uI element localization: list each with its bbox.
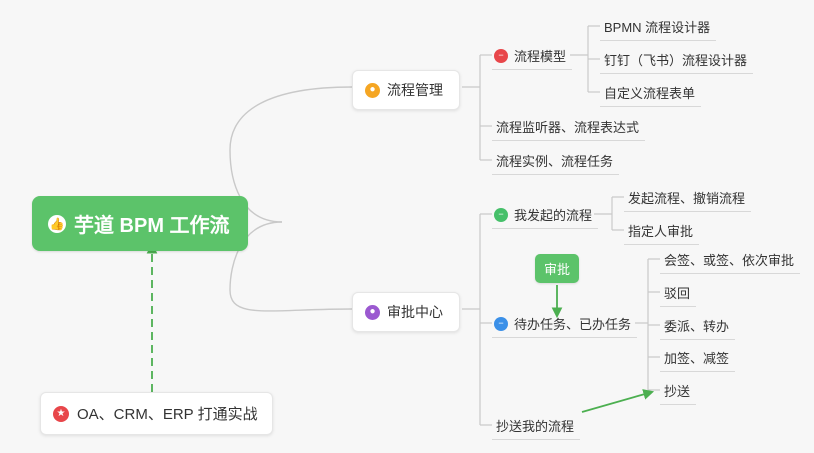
- node-label: 钉钉（飞书）流程设计器: [604, 50, 747, 69]
- node-cc-my-processes[interactable]: 抄送我的流程: [492, 413, 580, 440]
- node-my-started-processes[interactable]: − 我发起的流程: [492, 202, 598, 229]
- connector-root-to-approval-center: [230, 222, 352, 311]
- node-label: 流程模型: [514, 46, 566, 65]
- node-custom-form[interactable]: 自定义流程表单: [600, 80, 701, 107]
- node-dingtalk-designer[interactable]: 钉钉（飞书）流程设计器: [600, 47, 753, 74]
- node-label: 自定义流程表单: [604, 83, 695, 102]
- branch-process-management[interactable]: ● 流程管理: [352, 70, 460, 110]
- node-label: 我发起的流程: [514, 205, 592, 224]
- node-assign-approver[interactable]: 指定人审批: [624, 218, 699, 245]
- node-bpmn-designer[interactable]: BPMN 流程设计器: [600, 14, 716, 41]
- node-todo-done-tasks[interactable]: − 待办任务、已办任务: [492, 311, 637, 338]
- node-add-remove-sign[interactable]: 加签、减签: [660, 345, 735, 372]
- root-node[interactable]: 👍 芋道 BPM 工作流: [32, 196, 248, 251]
- node-reject[interactable]: 驳回: [660, 280, 696, 307]
- minus-circle-icon: −: [494, 208, 508, 222]
- minus-circle-icon: −: [494, 49, 508, 63]
- node-label: 会签、或签、依次审批: [664, 250, 794, 269]
- node-process-instance[interactable]: 流程实例、流程任务: [492, 148, 619, 175]
- branch-approval-center[interactable]: ● 审批中心: [352, 292, 460, 332]
- node-label: 待办任务、已办任务: [514, 314, 631, 333]
- message-icon: ●: [365, 305, 380, 320]
- node-label: 流程实例、流程任务: [496, 151, 613, 170]
- node-label: 抄送我的流程: [496, 416, 574, 435]
- node-countersign[interactable]: 会签、或签、依次审批: [660, 247, 800, 274]
- connector-root-to-process-management: [230, 87, 352, 222]
- node-start-cancel-process[interactable]: 发起流程、撤销流程: [624, 185, 751, 212]
- node-delegate-transfer[interactable]: 委派、转办: [660, 313, 735, 340]
- arrow-cc-to-cc-action: [582, 392, 652, 412]
- minus-circle-icon: −: [494, 317, 508, 331]
- node-label: 发起流程、撤销流程: [628, 188, 745, 207]
- node-label: BPMN 流程设计器: [604, 17, 710, 36]
- bottom-card-integration-practice[interactable]: ★ OA、CRM、ERP 打通实战: [40, 392, 273, 435]
- node-label: 驳回: [664, 283, 690, 302]
- location-pin-icon: ●: [365, 83, 380, 98]
- branch-label: 流程管理: [387, 80, 443, 100]
- node-label: 委派、转办: [664, 316, 729, 335]
- branch-label: 审批中心: [387, 302, 443, 322]
- node-process-listener[interactable]: 流程监听器、流程表达式: [492, 114, 645, 141]
- node-label: 流程监听器、流程表达式: [496, 117, 639, 136]
- chip-label: 审批: [544, 262, 570, 277]
- node-carbon-copy[interactable]: 抄送: [660, 378, 696, 405]
- node-label: 抄送: [664, 381, 690, 400]
- node-label: 指定人审批: [628, 221, 693, 240]
- bottom-card-label: OA、CRM、ERP 打通实战: [77, 403, 258, 424]
- mindmap-canvas: 👍 芋道 BPM 工作流 ● 流程管理 − 流程模型 流程监听器、流程表达式 流…: [0, 0, 814, 453]
- thumbs-up-icon: 👍: [48, 215, 66, 233]
- root-label: 芋道 BPM 工作流: [74, 209, 230, 238]
- star-icon: ★: [53, 406, 69, 422]
- node-label: 加签、减签: [664, 348, 729, 367]
- highlight-approval-chip[interactable]: 审批: [535, 254, 579, 283]
- node-process-model[interactable]: − 流程模型: [492, 43, 572, 70]
